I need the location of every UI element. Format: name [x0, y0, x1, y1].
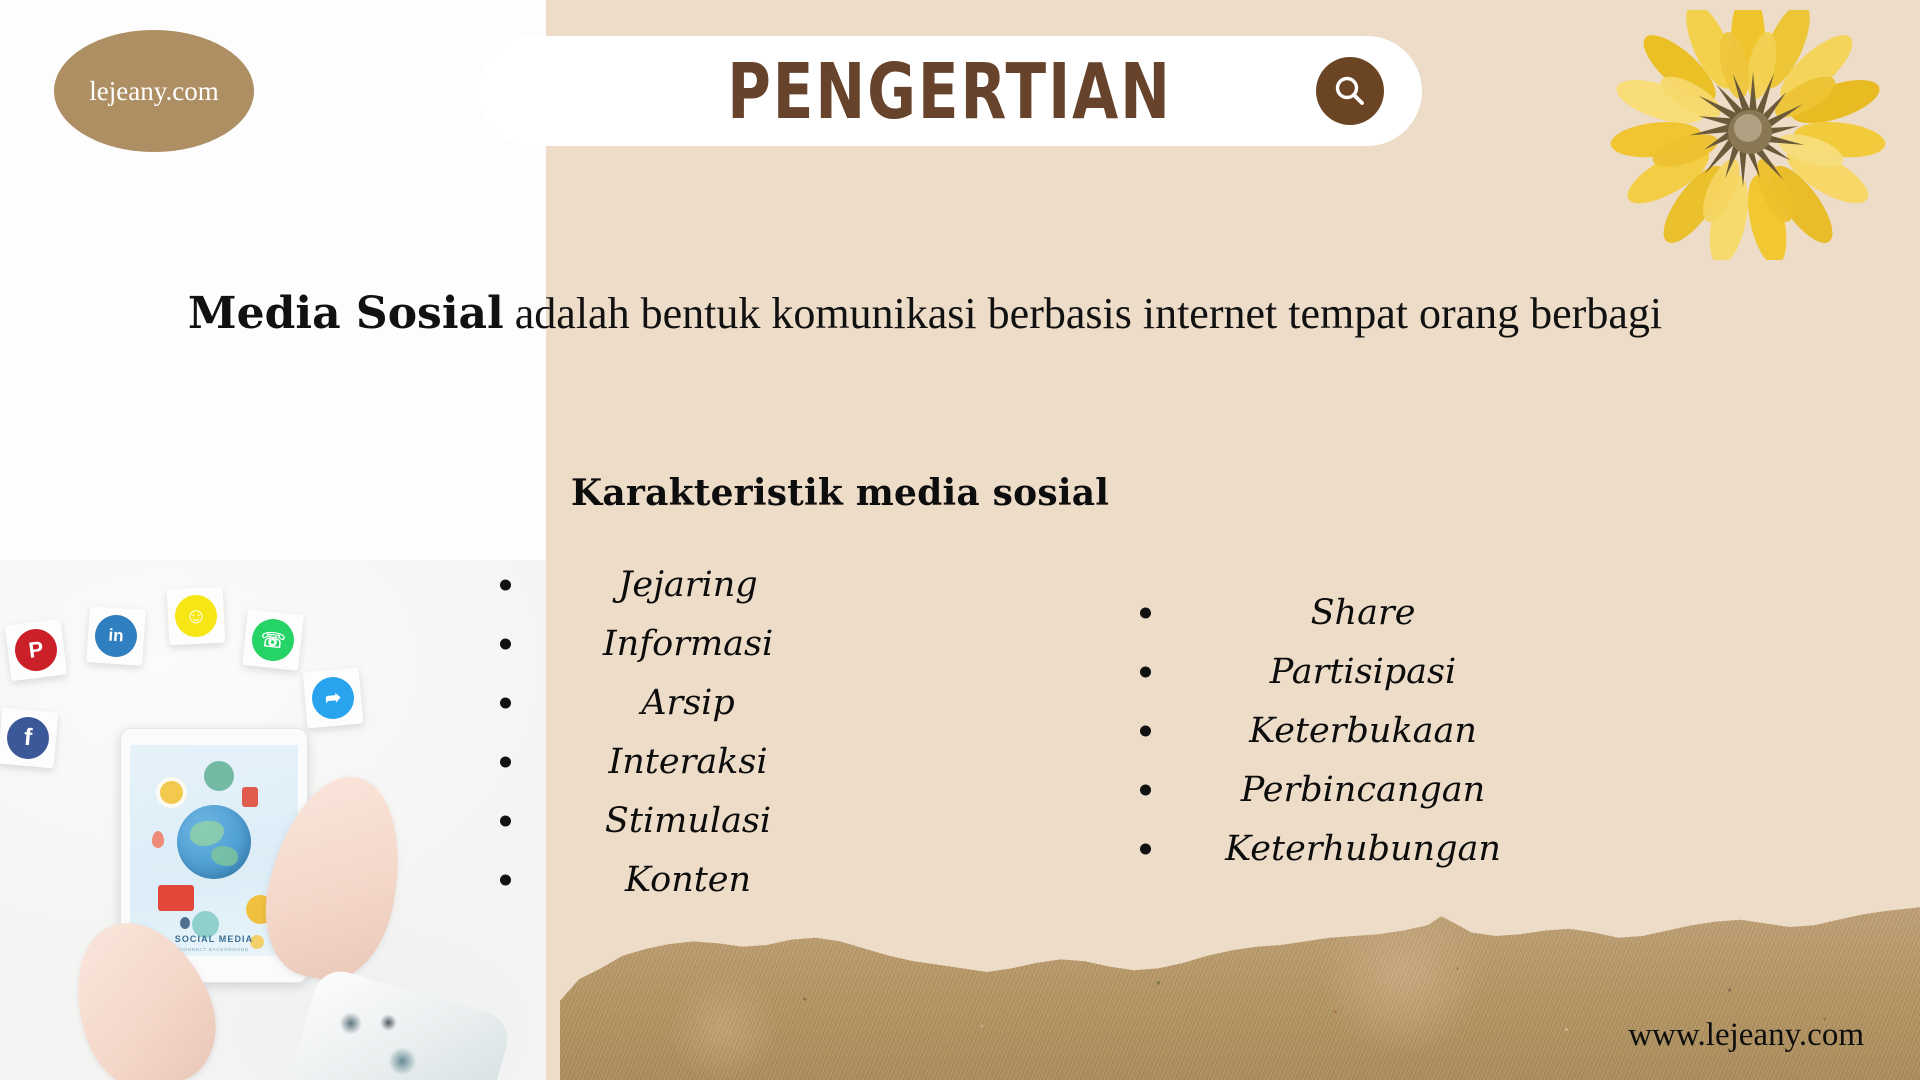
bubble-red-tag — [242, 787, 258, 807]
list-item: Share — [1140, 593, 1540, 633]
list-item: Informasi — [500, 624, 830, 664]
slide-canvas: P in ☺ ☏ ➦ f — [0, 0, 1920, 1080]
list-item: Keterbukaan — [1140, 711, 1540, 751]
bullet-dot-icon — [500, 816, 511, 827]
cube-snapchat: ☺ — [167, 587, 226, 646]
list-item-label: Keterbukaan — [1249, 711, 1477, 751]
characteristics-list-right: Share Partisipasi Keterbukaan Perbincang… — [1140, 593, 1540, 888]
bullet-list-left: Jejaring Informasi Arsip Interaksi Stimu… — [500, 565, 830, 900]
list-item-label: Konten — [625, 860, 751, 900]
twitter-icon: ➦ — [310, 675, 356, 721]
list-item-label: Keterhubungan — [1225, 829, 1501, 869]
list-item-label: Stimulasi — [605, 801, 771, 841]
lead-paragraph: Media Sosial adalah bentuk komunikasi be… — [175, 286, 1675, 341]
list-item-label: Arsip — [641, 683, 735, 723]
list-item: Interaksi — [500, 742, 830, 782]
lead-rest-text: adalah bentuk komunikasi berbasis intern… — [504, 289, 1662, 338]
cube-twitter: ➦ — [303, 668, 364, 729]
brand-logo[interactable]: lejeany.com — [54, 30, 254, 152]
bullet-dot-icon — [1140, 785, 1151, 796]
pinterest-icon: P — [13, 627, 60, 674]
cube-whatsapp: ☏ — [242, 609, 304, 671]
social-media-photo: P in ☺ ☏ ➦ f — [0, 560, 546, 1080]
globe-illustration — [177, 805, 251, 879]
characteristics-list-left: Jejaring Informasi Arsip Interaksi Stimu… — [500, 565, 830, 919]
brand-logo-text: lejeany.com — [89, 76, 218, 107]
bullet-dot-icon — [1140, 844, 1151, 855]
list-item: Partisipasi — [1140, 652, 1540, 692]
list-item-label: Interaksi — [608, 742, 767, 782]
bullet-dot-icon — [500, 639, 511, 650]
list-item: Stimulasi — [500, 801, 830, 841]
snapchat-icon: ☺ — [174, 594, 218, 638]
bubble-emoji — [160, 781, 183, 804]
bullet-dot-icon — [500, 580, 511, 591]
bullet-dot-icon — [1140, 667, 1151, 678]
list-item: Perbincangan — [1140, 770, 1540, 810]
footer-url: www.lejeany.com — [1628, 1017, 1864, 1054]
cube-pinterest: P — [5, 619, 67, 681]
bullet-dot-icon — [1140, 726, 1151, 737]
list-item-label: Partisipasi — [1270, 652, 1456, 692]
bubble-teal — [204, 761, 234, 791]
list-item: Keterhubungan — [1140, 829, 1540, 869]
sunflower-decoration — [1598, 10, 1898, 260]
list-item: Jejaring — [500, 565, 830, 605]
bullet-list-right: Share Partisipasi Keterbukaan Perbincang… — [1140, 593, 1540, 869]
lead-bold-term: Media Sosial — [188, 288, 504, 339]
list-item-label: Share — [1311, 593, 1416, 633]
list-item: Arsip — [500, 683, 830, 723]
list-item-label: Jejaring — [618, 565, 757, 605]
whatsapp-icon: ☏ — [250, 617, 296, 663]
search-button[interactable] — [1316, 57, 1384, 125]
list-item-label: Perbincangan — [1241, 770, 1485, 810]
bullet-dot-icon — [1140, 608, 1151, 619]
bubble-video — [158, 885, 194, 911]
cube-linkedin: in — [86, 606, 146, 666]
linkedin-icon: in — [94, 614, 139, 659]
list-item: Konten — [500, 860, 830, 900]
bubble-pin — [152, 831, 164, 848]
bullet-dot-icon — [500, 757, 511, 768]
bubble-person — [180, 917, 190, 929]
bullet-dot-icon — [500, 875, 511, 886]
characteristics-heading: Karakteristik media sosial — [340, 472, 1340, 514]
search-icon — [1332, 73, 1368, 109]
cube-facebook: f — [0, 708, 58, 769]
list-item-label: Informasi — [603, 624, 773, 664]
bullet-dot-icon — [500, 698, 511, 709]
facebook-icon: f — [5, 715, 51, 761]
search-bar[interactable] — [478, 36, 1422, 146]
